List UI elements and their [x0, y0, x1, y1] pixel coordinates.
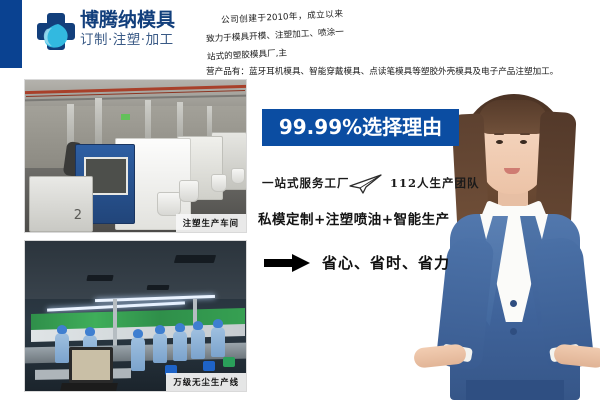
worker [131, 337, 145, 371]
machine-indicator-light [121, 114, 130, 120]
worker [55, 333, 69, 363]
monitor [69, 347, 113, 383]
cleanroom-scene [25, 241, 246, 391]
logo-subtitle: 订制·注塑·加工 [80, 32, 190, 49]
logo-title: 博腾纳模具 [80, 9, 190, 31]
feature-left-text: 一站式服务工厂 [262, 172, 350, 194]
feature-row: 一站式服务工厂 112人生产团队 [262, 172, 472, 194]
photo-caption: 万级无尘生产线 [166, 373, 246, 391]
ceiling-vent [174, 255, 216, 263]
worker [153, 333, 167, 363]
molding-machine [29, 176, 93, 232]
eyebrow [520, 133, 530, 135]
headline-banner: 99.99%选择理由 [262, 109, 459, 146]
bin [223, 357, 235, 367]
blazer-button [510, 328, 517, 335]
material-bucket [179, 180, 199, 202]
material-bucket [231, 168, 245, 184]
blazer-button [510, 300, 517, 307]
photo-caption: 注塑生产车间 [176, 214, 246, 232]
support-pillar [113, 299, 117, 351]
header-accent-bar [0, 0, 22, 68]
skirt [466, 380, 564, 400]
cleanroom-ceiling [25, 241, 246, 299]
header: 博腾纳模具 订制·注塑·加工 公司创建于2010年，成立以来致力于模具开模、注塑… [0, 0, 600, 68]
logo[interactable]: 博腾纳模具 订制·注塑·加工 [36, 9, 188, 59]
photo-injection-molding-workshop[interactable]: 注塑生产车间 [24, 79, 247, 233]
company-description-line-2: 营产品有：蓝牙耳机模具、智能穿戴模具、点读笔模具等塑胶外壳模具及电子产品注塑加工… [206, 63, 588, 81]
eye [496, 140, 503, 144]
stool [203, 361, 215, 371]
logo-text: 博腾纳模具 订制·注塑·加工 [80, 9, 190, 49]
worker [191, 329, 205, 359]
workshop-scene [25, 80, 246, 232]
company-description-line-1: 公司创建于2010年，成立以来致力于模具开模、注塑加工、喷涂一站式的塑胶模具厂,… [205, 5, 346, 66]
material-bucket [157, 192, 181, 216]
keyboard [60, 383, 118, 391]
headline-text: 99.99%选择理由 [262, 109, 459, 146]
hair-fringe [478, 100, 548, 134]
material-bucket [211, 174, 227, 192]
feature-right-text: 112人生产团队 [390, 172, 480, 194]
worker [211, 327, 225, 357]
result-text: 省心、省时、省力 [322, 248, 450, 278]
machine-column [95, 98, 102, 144]
result-row: 省心、省时、省力 [264, 248, 484, 278]
eye [520, 140, 527, 144]
photo-dust-free-production-line[interactable]: 万级无尘生产线 [24, 240, 247, 392]
ceiling-vent [86, 275, 113, 281]
paper-plane-icon [348, 174, 382, 194]
worker [173, 331, 187, 361]
ceiling-vent [147, 285, 170, 290]
cross-droplet-logo-icon [36, 11, 76, 55]
eyebrow [494, 133, 504, 135]
formula-text: 私模定制+注塑喷油+智能生产 [258, 208, 450, 228]
right-arrow-icon [264, 254, 310, 272]
poster-canvas: 博腾纳模具 订制·注塑·加工 公司创建于2010年，成立以来致力于模具开模、注塑… [0, 0, 600, 400]
company-description: 公司创建于2010年，成立以来致力于模具开模、注塑加工、喷涂一站式的塑胶模具厂,… [206, 9, 588, 81]
